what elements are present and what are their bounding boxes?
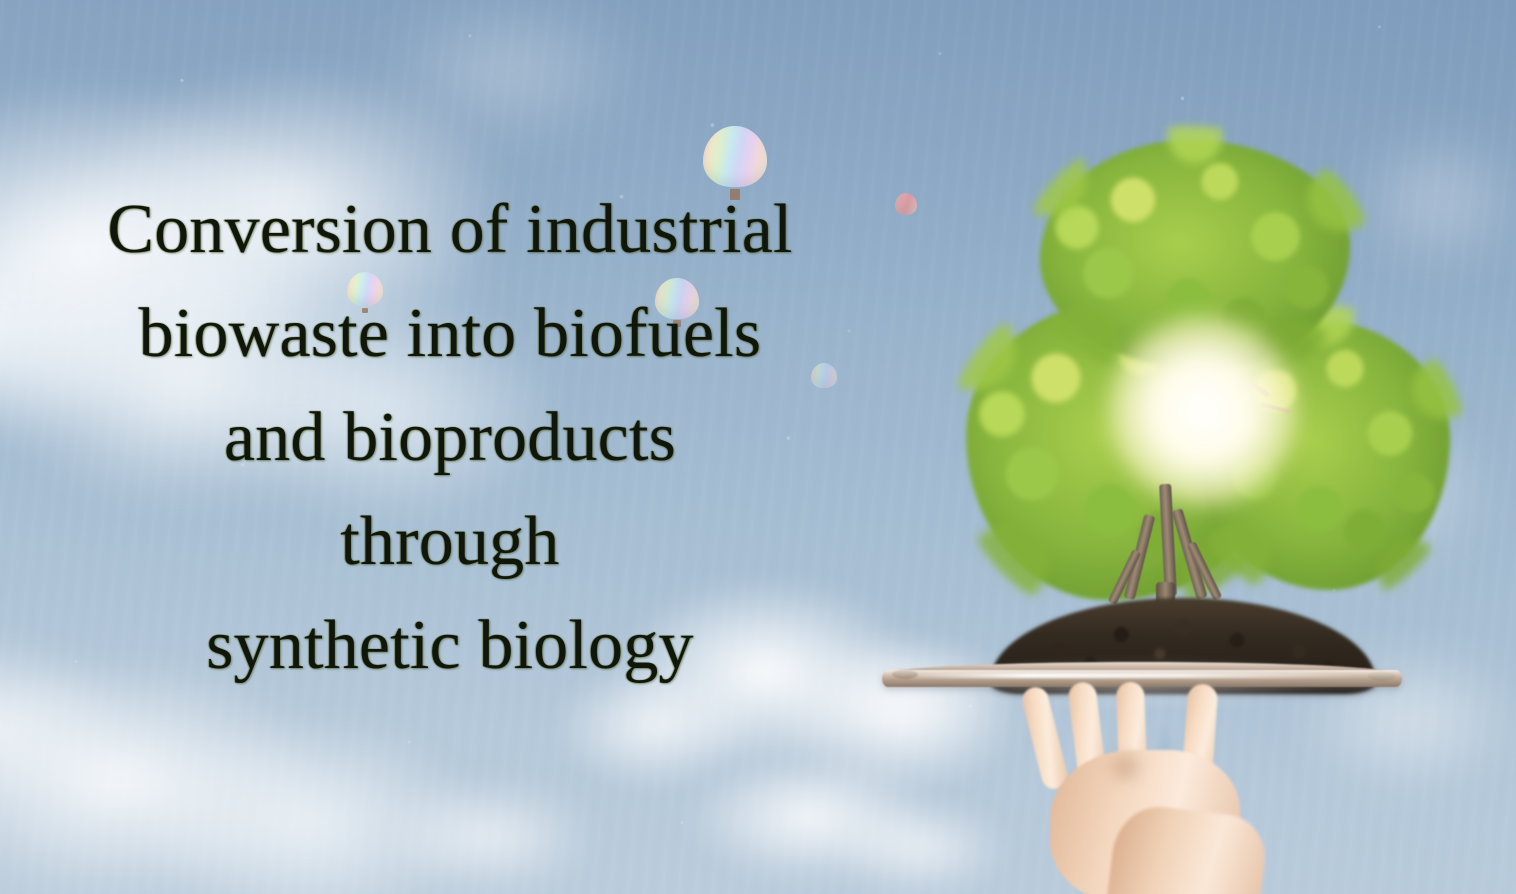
title-line-3: and bioproducts [0, 386, 900, 490]
slide-title: Conversion of industrial biowaste into b… [0, 178, 900, 698]
title-line-1: Conversion of industrial [0, 178, 900, 282]
knuckle-shadow [1096, 740, 1154, 794]
tree-on-tray-illustration [860, 110, 1460, 894]
hand-holding-tray [860, 110, 1460, 894]
title-line-2: biowaste into biofuels [0, 282, 900, 386]
title-line-5: synthetic biology [0, 594, 900, 698]
title-line-4: through [0, 490, 900, 594]
presentation-slide: Conversion of industrial biowaste into b… [0, 0, 1516, 894]
finger [1020, 684, 1070, 791]
